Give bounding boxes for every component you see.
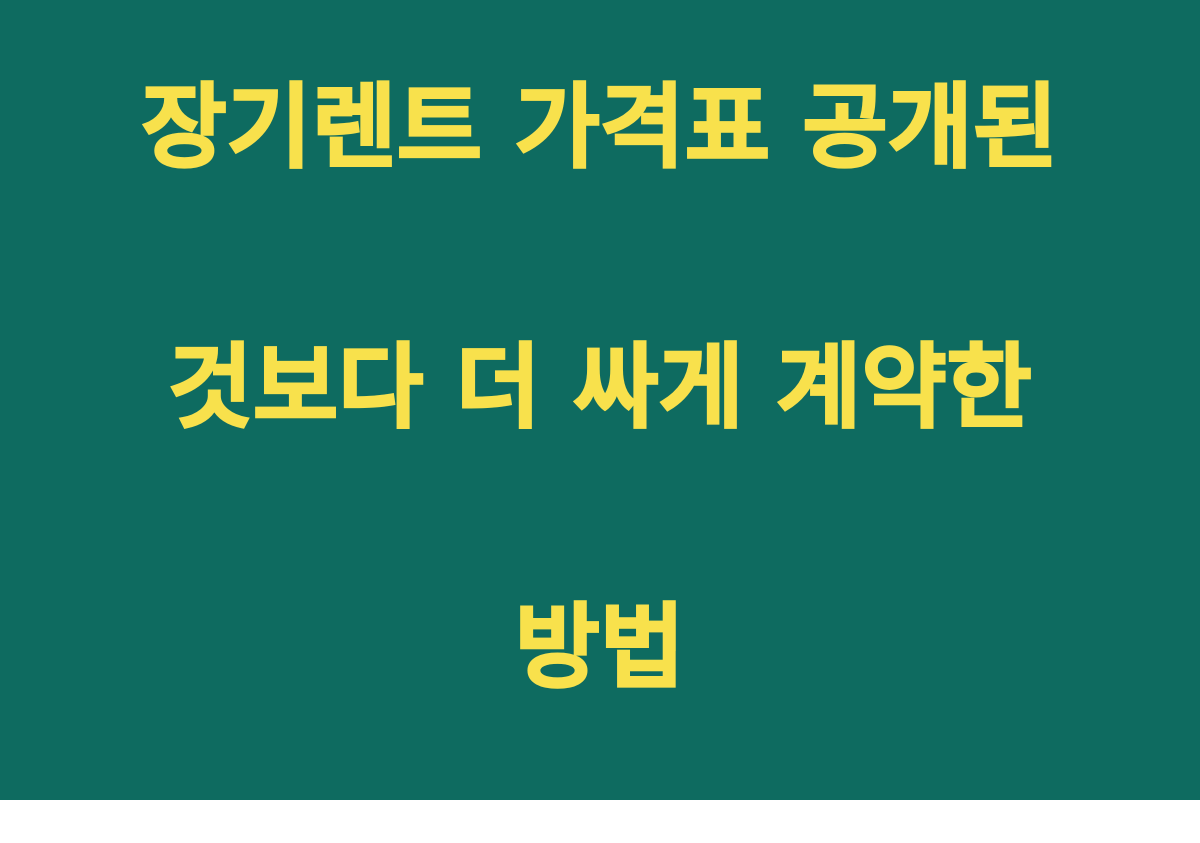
headline-line-3: 방법 (80, 583, 1120, 713)
page-title: 장기렌트 가격표 공개된 것보다 더 싸게 계약한 방법 (80, 0, 1120, 843)
headline-line-2: 것보다 더 싸게 계약한 (80, 323, 1120, 453)
headline-line-1: 장기렌트 가격표 공개된 (80, 63, 1120, 193)
title-card: 장기렌트 가격표 공개된 것보다 더 싸게 계약한 방법 (0, 0, 1200, 800)
